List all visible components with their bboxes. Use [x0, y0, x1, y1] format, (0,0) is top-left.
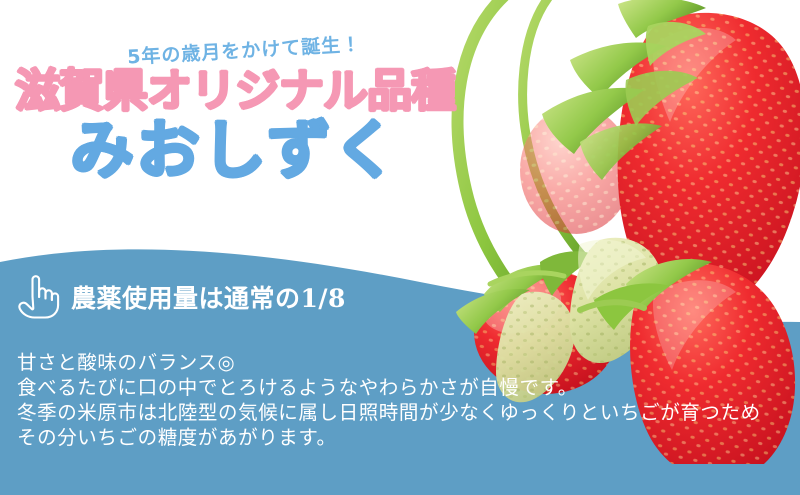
- headline-block: 5年の歳月をかけて誕生！ 滋賀県オリジナル品種 みおしずく: [0, 36, 470, 184]
- body-line-3: 冬季の米原市は北陸型の気候に属し日照時間が少なくゆっくりといちごが育つため: [17, 400, 761, 425]
- claim-row: 農薬使用量は通常の1/8: [16, 272, 346, 322]
- pointing-hand-icon: [16, 272, 62, 322]
- claim-text: 農薬使用量は通常の1/8: [71, 279, 346, 315]
- body-line-2: 食べるたびに口の中でとろけるようなやわらかさが自慢です。: [17, 375, 761, 400]
- prefecture-title: 滋賀県オリジナル品種: [0, 67, 470, 116]
- body-line-1: 甘さと酸味のバランス◎: [17, 350, 761, 375]
- poster-root: 5年の歳月をかけて誕生！ 滋賀県オリジナル品種 みおしずく 農薬使用量は通常の1…: [0, 0, 800, 495]
- brand-name-title: みおしずく: [0, 118, 470, 184]
- body-copy: 甘さと酸味のバランス◎ 食べるたびに口の中でとろけるようなやわらかさが自慢です。…: [17, 350, 761, 450]
- body-line-4: その分いちごの糖度があがります。: [17, 425, 761, 450]
